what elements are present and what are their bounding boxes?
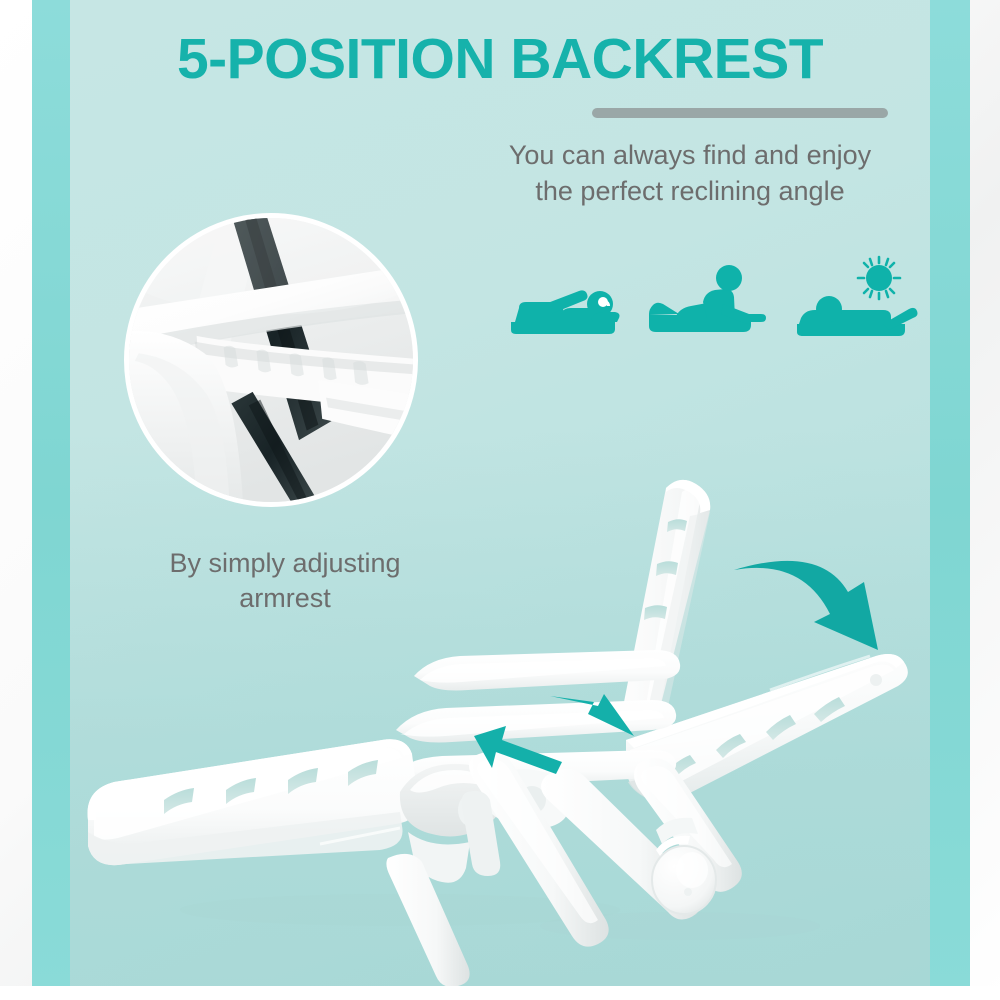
page-subtitle: You can always find and enjoy the perfec… bbox=[460, 138, 920, 209]
subtitle-line-2: the perfect reclining angle bbox=[460, 174, 920, 210]
infographic-canvas: 5-POSITION BACKREST You can always find … bbox=[0, 0, 1000, 1000]
title-divider bbox=[592, 108, 888, 118]
person-lying-flat-with-pillow-icon bbox=[505, 252, 640, 357]
curved-down-arrow bbox=[726, 548, 891, 658]
hinge-arrow-up-left bbox=[472, 724, 564, 776]
chair-footrest-panel bbox=[88, 739, 419, 865]
page-title: 5-POSITION BACKREST bbox=[70, 30, 930, 90]
person-semi-reclined-icon bbox=[645, 252, 780, 357]
chair-backrest bbox=[623, 480, 710, 722]
subtitle-line-1: You can always find and enjoy bbox=[460, 138, 920, 174]
sun-icon bbox=[858, 257, 900, 299]
position-pictogram-group bbox=[505, 252, 920, 357]
bottom-white-margin bbox=[0, 986, 1000, 1000]
folding-lounge-chair-photo bbox=[70, 440, 930, 986]
left-accent-band bbox=[32, 0, 70, 1000]
right-accent-band bbox=[930, 0, 970, 1000]
person-sunbathing-flat-icon bbox=[787, 252, 922, 357]
